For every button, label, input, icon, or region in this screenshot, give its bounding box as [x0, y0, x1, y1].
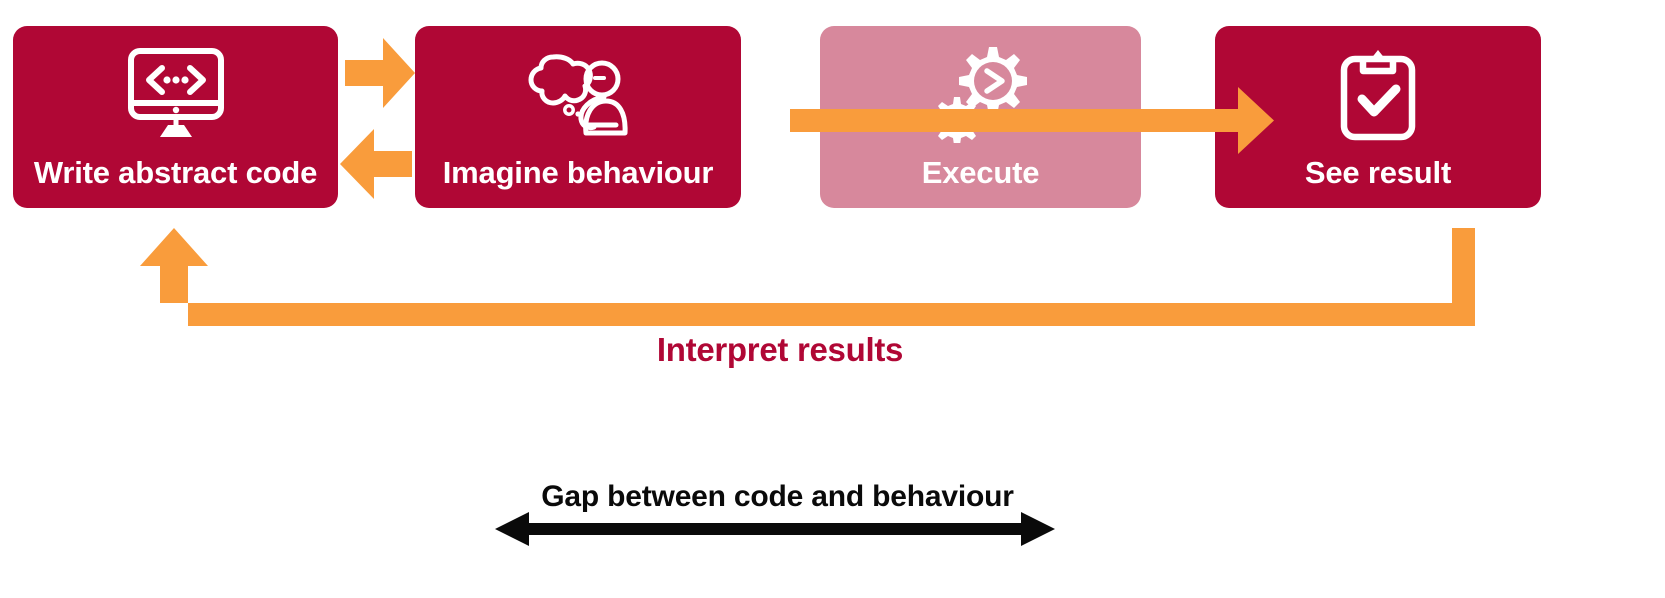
- arrow-right-icon: [345, 32, 415, 114]
- arrow-loop-up-icon: [140, 228, 1485, 338]
- card-imagine-behaviour[interactable]: Imagine behaviour: [415, 26, 741, 208]
- clipboard-check-icon: [1336, 48, 1420, 140]
- card-write-abstract-code[interactable]: Write abstract code: [13, 26, 338, 208]
- card-label: Execute: [820, 157, 1141, 188]
- arrow-right-icon: [790, 83, 1274, 158]
- card-label: Imagine behaviour: [415, 157, 741, 188]
- monitor-code-icon: [124, 48, 228, 140]
- card-label: Write abstract code: [13, 157, 338, 188]
- card-label: See result: [1215, 157, 1541, 188]
- double-headed-arrow-icon: [495, 508, 1055, 550]
- arrow-left-icon: [340, 124, 412, 204]
- diagram-canvas: Write abstract code Imagine behaviour: [0, 0, 1665, 598]
- interpret-results-label: Interpret results: [0, 331, 1560, 369]
- thinking-person-icon: [522, 48, 634, 140]
